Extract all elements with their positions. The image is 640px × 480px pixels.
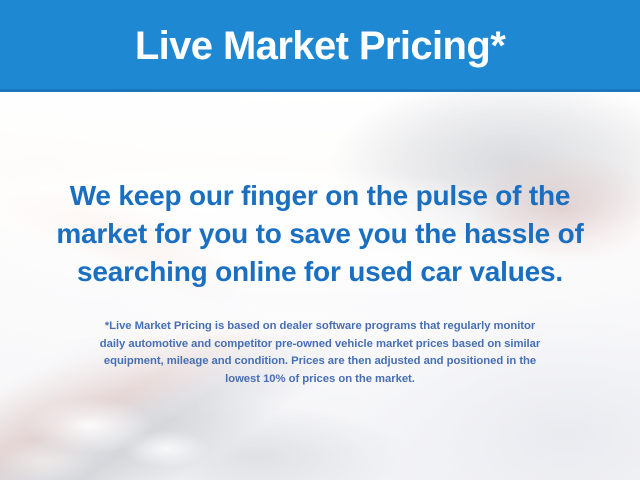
disclaimer-line-2: daily automotive and competitor pre-owne… xyxy=(28,336,612,354)
disclaimer-line-4: lowest 10% of prices on the market. xyxy=(28,371,612,389)
headline: We keep our finger on the pulse of the m… xyxy=(20,177,620,291)
disclaimer-text: *Live Market Pricing is based on dealer … xyxy=(28,318,612,388)
live-market-pricing-banner: Live Market Pricing* We keep our finger … xyxy=(0,0,640,480)
disclaimer-line-3: equipment, mileage and condition. Prices… xyxy=(28,353,612,371)
headline-line-3: searching online for used car values. xyxy=(20,253,620,291)
disclaimer-line-1: *Live Market Pricing is based on dealer … xyxy=(28,318,612,336)
headline-line-2: market for you to save you the hassle of xyxy=(20,215,620,253)
header-band: Live Market Pricing* xyxy=(0,0,640,92)
content-area: We keep our finger on the pulse of the m… xyxy=(0,92,640,480)
headline-line-1: We keep our finger on the pulse of the xyxy=(20,177,620,215)
page-title: Live Market Pricing* xyxy=(125,26,515,66)
